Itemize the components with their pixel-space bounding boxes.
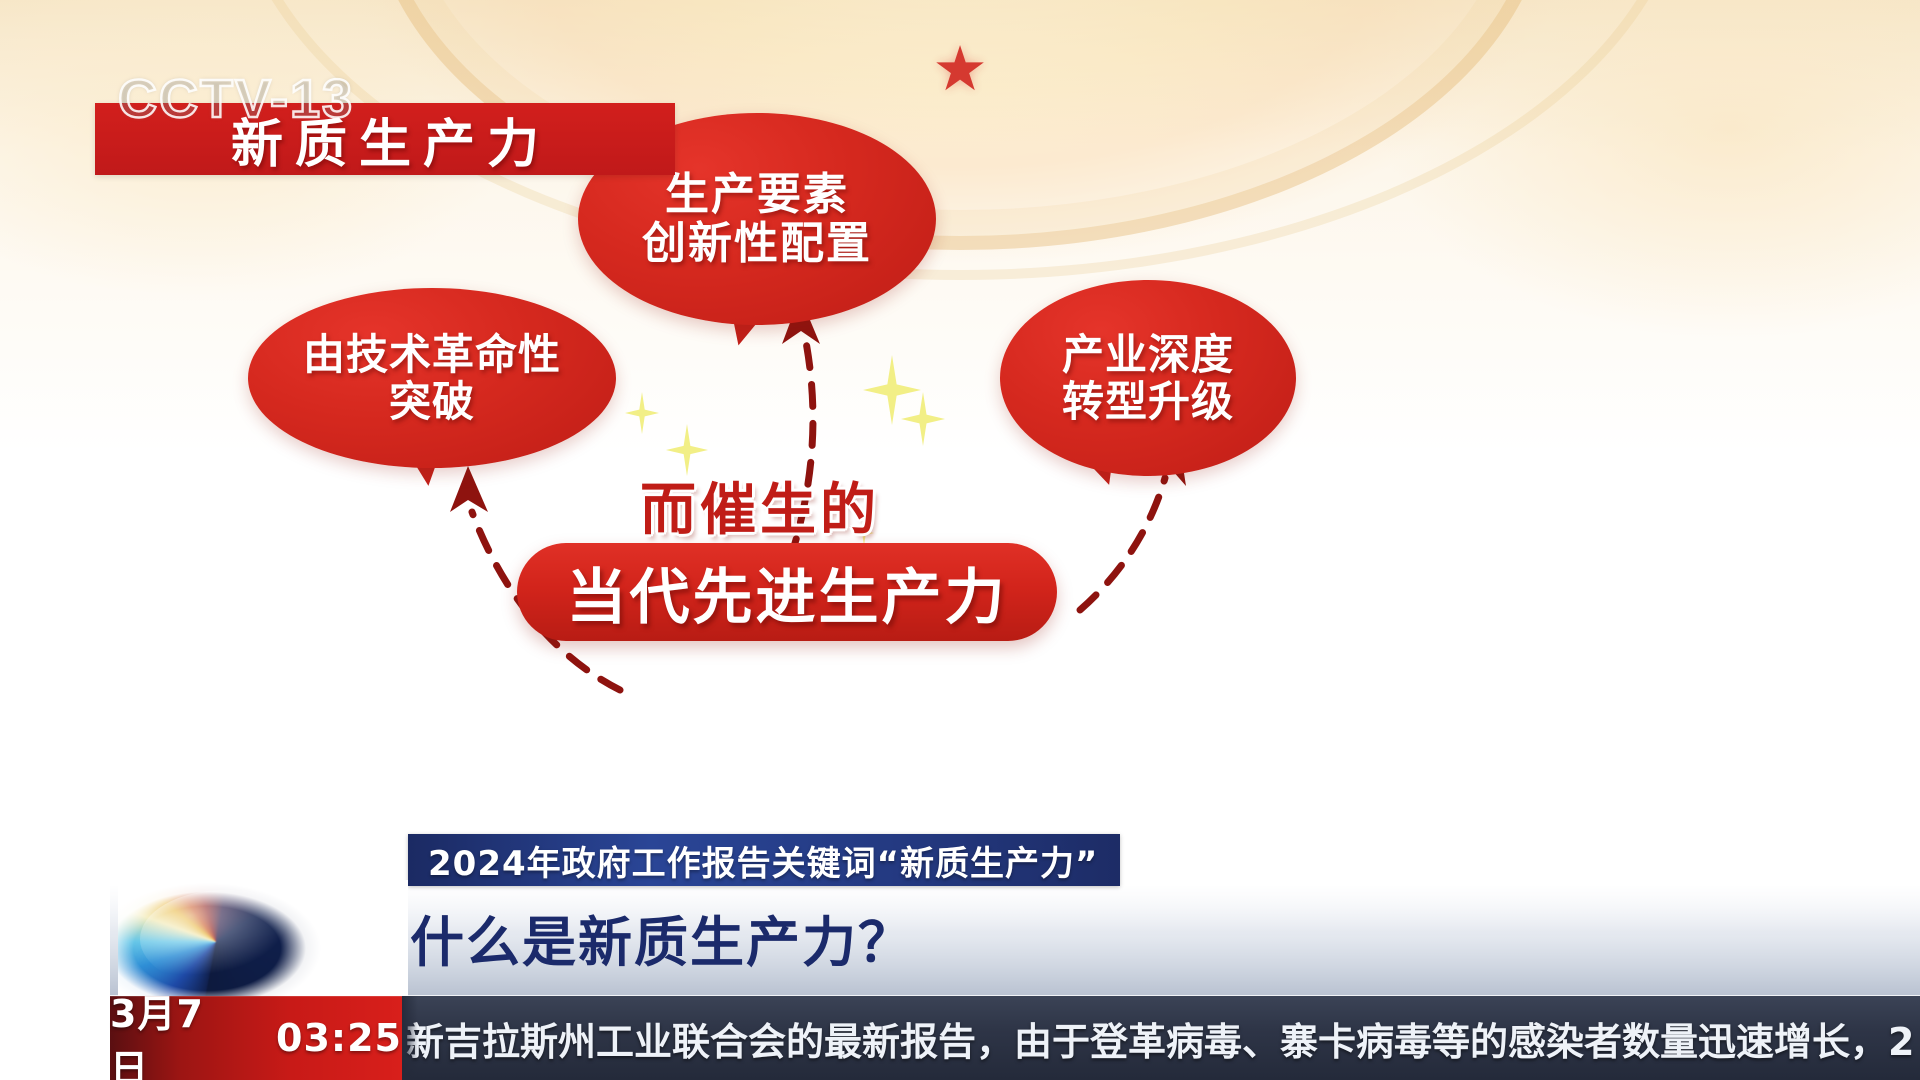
pill-label: 当代先进生产力	[567, 549, 1008, 636]
broadcast-screen: ★ 生产要素 创新性配置 由技术革命性 突破 产业深度 转型升级 而催生的 当代…	[0, 0, 1920, 1080]
red-star-icon: ★	[932, 38, 988, 100]
ticker-text-area: 新吉拉斯州工业联合会的最新报告，由于登革病毒、寨卡病毒等的感染者数量迅速增长，2	[402, 996, 1920, 1080]
news-ticker: 3月7日 03:25 新吉拉斯州工业联合会的最新报告，由于登革病毒、寨卡病毒等的…	[110, 996, 1920, 1080]
bubble-technology-breakthrough: 由技术革命性 突破	[248, 288, 616, 468]
center-caption: 而催生的	[640, 465, 880, 546]
ticker-date-label: 3月7日	[110, 983, 242, 1080]
bubble-line: 生产要素	[665, 170, 849, 219]
bubble-line: 转型升级	[1062, 378, 1234, 425]
ticker-time-label: 03:25	[276, 1016, 402, 1060]
bubble-line: 创新性配置	[642, 219, 872, 268]
pill-contemporary-productive-force: 当代先进生产力	[517, 543, 1057, 641]
lower-third-headline: 什么是新质生产力？	[410, 898, 914, 977]
ticker-text: 新吉拉斯州工业联合会的最新报告，由于登革病毒、寨卡病毒等的感染者数量迅速增长，2	[402, 1011, 1914, 1066]
news-channel-logo-icon	[118, 880, 408, 998]
bubble-line: 产业深度	[1062, 331, 1234, 378]
bubble-line: 由技术革命性	[303, 331, 561, 378]
title-banner-label: 新质生产力	[95, 100, 675, 178]
ticker-datetime: 3月7日 03:25	[110, 996, 402, 1080]
bubble-industry-upgrade: 产业深度 转型升级	[1000, 280, 1296, 476]
lower-third-kicker: 2024年政府工作报告关键词“新质生产力”	[408, 834, 1120, 886]
lower-third-kicker-label: 2024年政府工作报告关键词“新质生产力”	[428, 836, 1098, 885]
bubble-line: 突破	[389, 378, 475, 425]
